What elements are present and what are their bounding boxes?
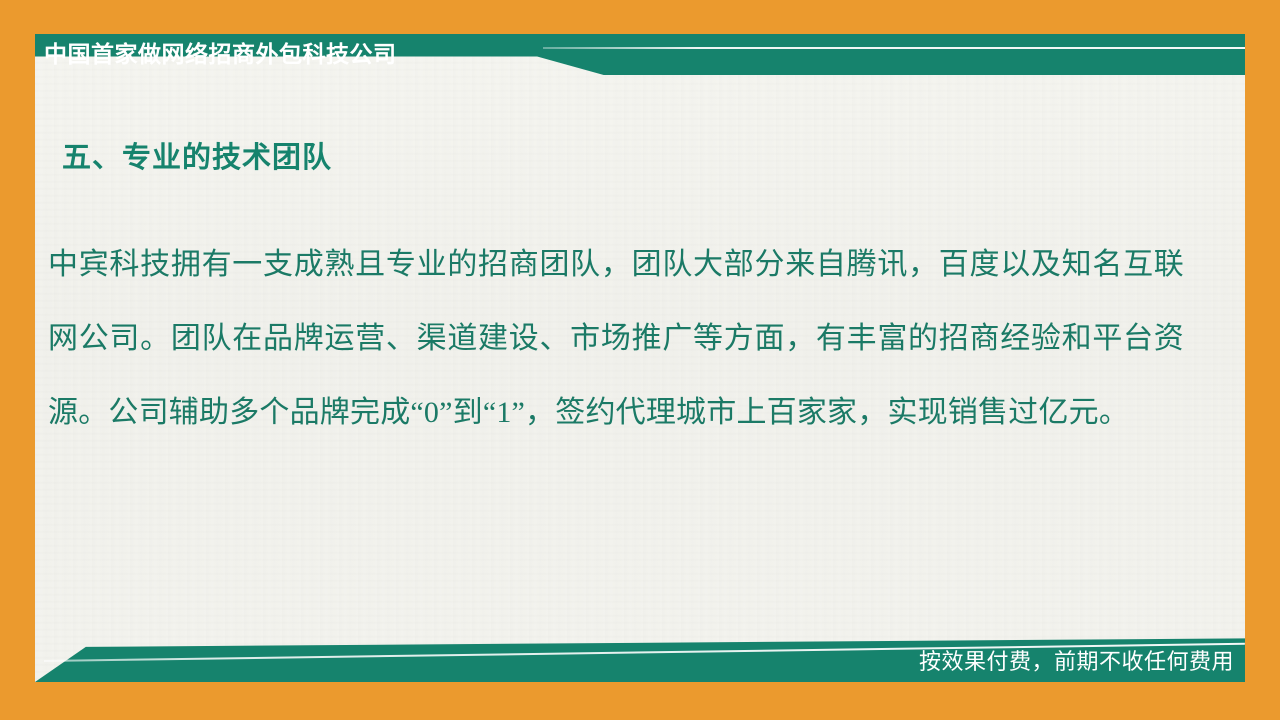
slide-canvas: 中国首家做网络招商外包科技公司 五、专业的技术团队 中宾科技拥有一支成熟且专业的… [0, 0, 1280, 720]
section-title: 五、专业的技术团队 [62, 134, 332, 176]
footer-tagline: 按效果付费，前期不收任何费用 [919, 644, 1234, 676]
header-hairline-divider [543, 47, 1245, 49]
body-paragraph: 中宾科技拥有一支成熟且专业的招商团队，团队大部分来自腾讯，百度以及知名互联网公司… [48, 228, 1184, 450]
header-title: 中国首家做网络招商外包科技公司 [44, 34, 397, 75]
